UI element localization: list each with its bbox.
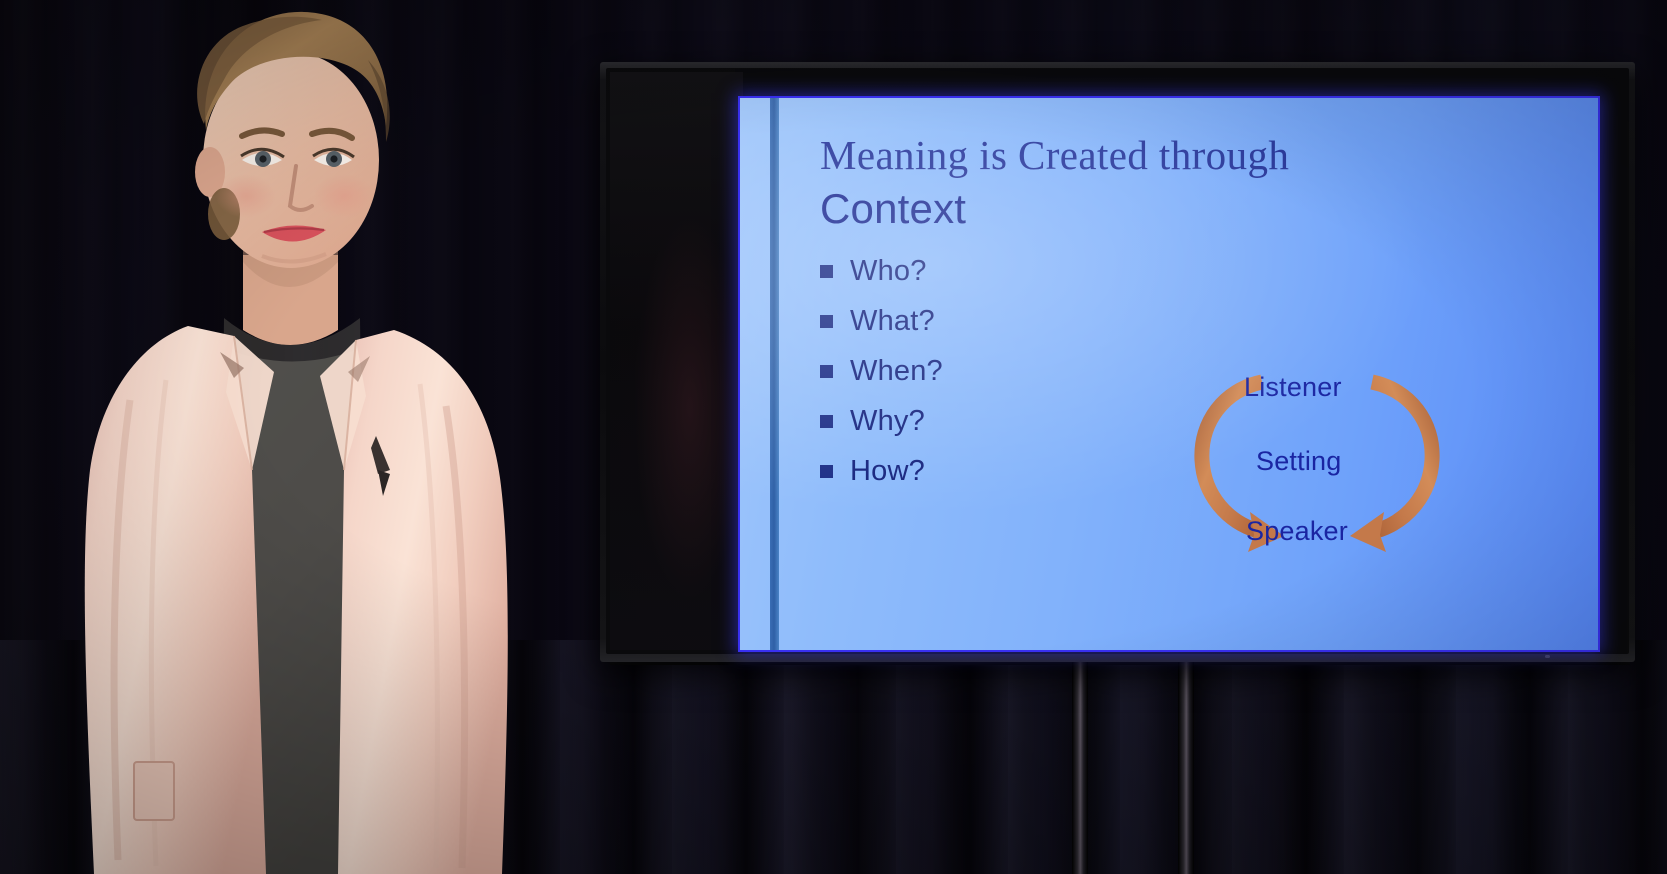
square-bullet-icon <box>820 465 833 478</box>
slide-title-line-1: Meaning is Created through <box>820 134 1580 177</box>
presentation-slide[interactable]: Meaning is Created through Context Who? … <box>740 98 1598 650</box>
square-bullet-icon <box>820 265 833 278</box>
bullet-label: Why? <box>850 405 925 438</box>
list-item: How? <box>820 455 1110 488</box>
list-item: Why? <box>820 405 1110 438</box>
slide-accent-stripe <box>770 98 779 650</box>
list-item: Who? <box>820 255 1110 288</box>
cycle-arrow-right <box>1350 382 1432 552</box>
cycle-node-listener: Listener <box>1244 372 1342 403</box>
bullet-label: Who? <box>850 255 927 288</box>
presenter-illustration <box>38 0 578 874</box>
flat-panel-display[interactable]: Meaning is Created through Context Who? … <box>600 62 1635 662</box>
cycle-node-speaker: Speaker <box>1246 516 1348 547</box>
tv-power-led <box>1545 655 1550 658</box>
presenter-jacket-pocket <box>134 762 174 820</box>
square-bullet-icon <box>820 365 833 378</box>
context-cycle-diagram: Listener Setting Speaker <box>1166 356 1466 566</box>
cycle-node-setting: Setting <box>1256 446 1341 477</box>
slide-content: Meaning is Created through Context Who? … <box>820 134 1580 640</box>
tv-stand-pole-left <box>1072 660 1088 874</box>
list-item: What? <box>820 305 1110 338</box>
video-frame: Meaning is Created through Context Who? … <box>0 0 1667 874</box>
tv-unlit-screen-area <box>610 72 743 650</box>
slide-bullet-list: Who? What? When? Why? <box>820 255 1110 488</box>
presenter-figure <box>38 0 578 874</box>
bullet-label: When? <box>850 355 943 388</box>
slide-title-line-2: Context <box>820 187 1580 231</box>
square-bullet-icon <box>820 415 833 428</box>
list-item: When? <box>820 355 1110 388</box>
square-bullet-icon <box>820 315 833 328</box>
bullet-label: What? <box>850 305 935 338</box>
bullet-label: How? <box>850 455 925 488</box>
tv-stand-pole-right <box>1178 660 1194 874</box>
